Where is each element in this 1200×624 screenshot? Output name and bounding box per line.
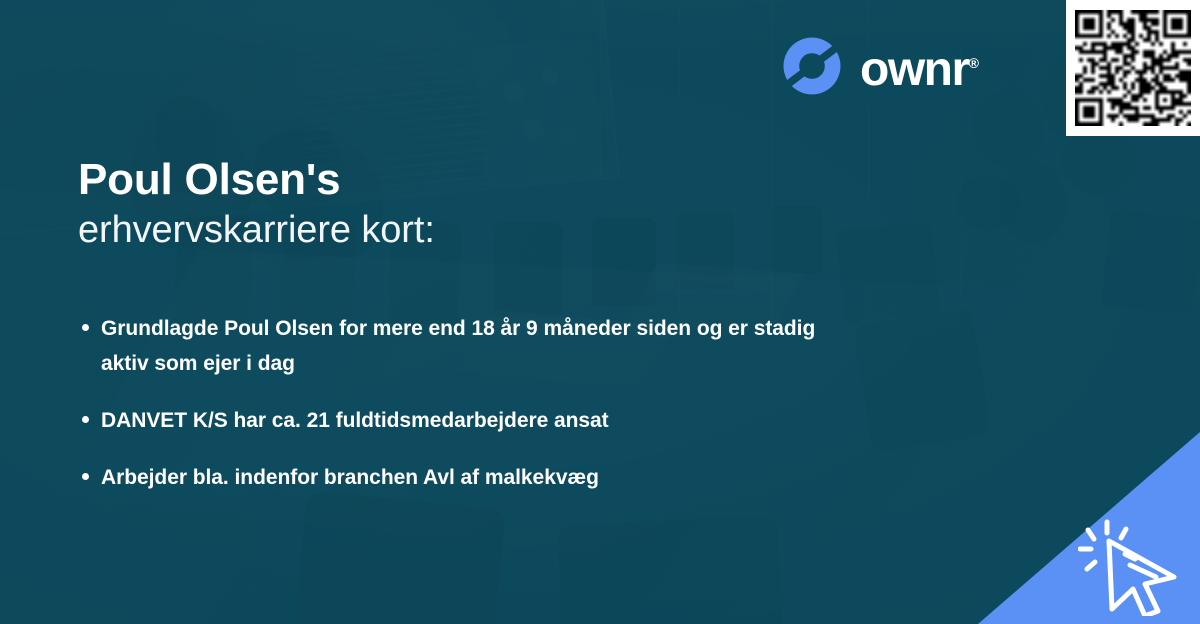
list-item-label: DANVET K/S har ca. 21 fuldtidsmedarbejde… [101, 403, 609, 438]
qr-code-panel[interactable] [1066, 0, 1200, 136]
mouse-cursor-click-icon [1078, 516, 1184, 616]
bullet-dot-icon [82, 416, 89, 423]
fact-list: Grundlagde Poul Olsen for mere end 18 år… [82, 311, 982, 517]
page-title: Poul Olsen's erhvervskarriere kort: [78, 156, 838, 253]
title-main: Poul Olsen's [78, 156, 838, 204]
list-item-label: Arbejder bla. indenfor branchen Avl af m… [101, 460, 599, 495]
registered-trademark-icon: ® [969, 55, 979, 71]
bullet-dot-icon [82, 473, 89, 480]
title-subtitle: erhvervskarriere kort: [78, 207, 838, 253]
brand-logo[interactable]: ownr® [782, 36, 979, 96]
list-item: Grundlagde Poul Olsen for mere end 18 år… [82, 311, 982, 381]
cursor-arrow-outline [1109, 541, 1174, 616]
list-item: DANVET K/S har ca. 21 fuldtidsmedarbejde… [82, 403, 982, 438]
qr-code-icon[interactable] [1075, 10, 1191, 126]
list-item: Arbejder bla. indenfor branchen Avl af m… [82, 460, 982, 495]
bullet-dot-icon [82, 324, 89, 331]
brand-wordmark-text: ownr [860, 43, 969, 96]
business-profile-card: Poul Olsen's erhvervskarriere kort: Grun… [0, 0, 1200, 624]
brand-wordmark: ownr® [860, 39, 979, 94]
ownr-circle-slash-icon [782, 36, 842, 96]
list-item-label: Grundlagde Poul Olsen for mere end 18 år… [101, 311, 846, 381]
